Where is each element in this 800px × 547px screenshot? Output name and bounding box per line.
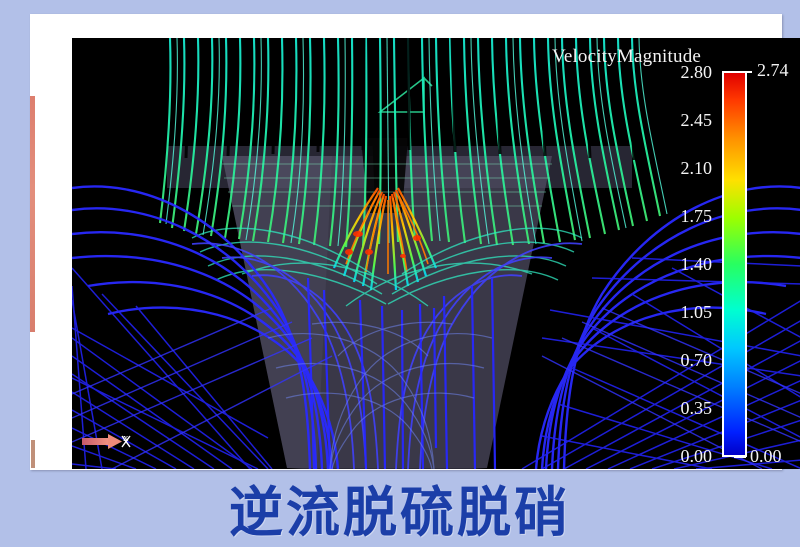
cfd-scene: [72, 38, 800, 469]
left-rail-strip: [30, 96, 35, 332]
axis-label-x: x: [123, 432, 129, 444]
left-rail-strip-lower: [31, 440, 35, 468]
axis-arrow-icon: [82, 428, 142, 464]
page-caption: 逆流脱硫脱硝: [0, 472, 800, 542]
visualization-window: VelocityMagnitude 2.80 2.45 2.10 1.75 1.…: [30, 14, 782, 470]
axis-indicator: x: [82, 428, 142, 464]
render-viewport[interactable]: VelocityMagnitude 2.80 2.45 2.10 1.75 1.…: [72, 38, 800, 469]
